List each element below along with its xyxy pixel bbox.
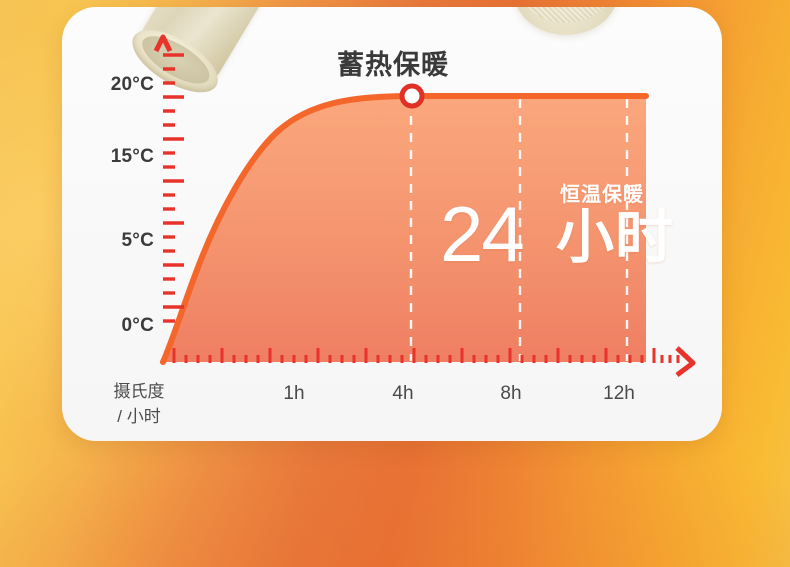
x-tick-label-4h: 4h	[368, 383, 438, 405]
y-tick-label-15: 15°C	[84, 146, 154, 168]
highlight-block: 24 恒温保暖 小时	[440, 197, 680, 297]
page-background: 20°C 15°C 5°C 0°C 1h 4h 8h 12h 摄氏度 / 小时 …	[0, 0, 790, 567]
product-info-card: 20°C 15°C 5°C 0°C 1h 4h 8h 12h 摄氏度 / 小时 …	[62, 7, 722, 441]
peak-marker[interactable]	[402, 86, 422, 106]
axis-caption-line-1: 摄氏度	[94, 379, 184, 404]
highlight-caption: 恒温保暖	[560, 185, 644, 205]
highlight-number: 24	[440, 195, 523, 273]
y-tick-label-20: 20°C	[84, 74, 154, 96]
x-tick-label-8h: 8h	[476, 383, 546, 405]
x-tick-label-1h: 1h	[259, 383, 329, 405]
y-tick-label-5: 5°C	[84, 230, 154, 252]
axis-caption: 摄氏度 / 小时	[94, 379, 184, 429]
highlight-unit: 小时	[556, 209, 674, 267]
y-tick-label-0: 0°C	[84, 315, 154, 337]
axis-caption-line-2: / 小时	[94, 404, 184, 429]
x-tick-label-12h: 12h	[584, 383, 654, 405]
chart-title: 蓄热保暖	[288, 43, 498, 82]
